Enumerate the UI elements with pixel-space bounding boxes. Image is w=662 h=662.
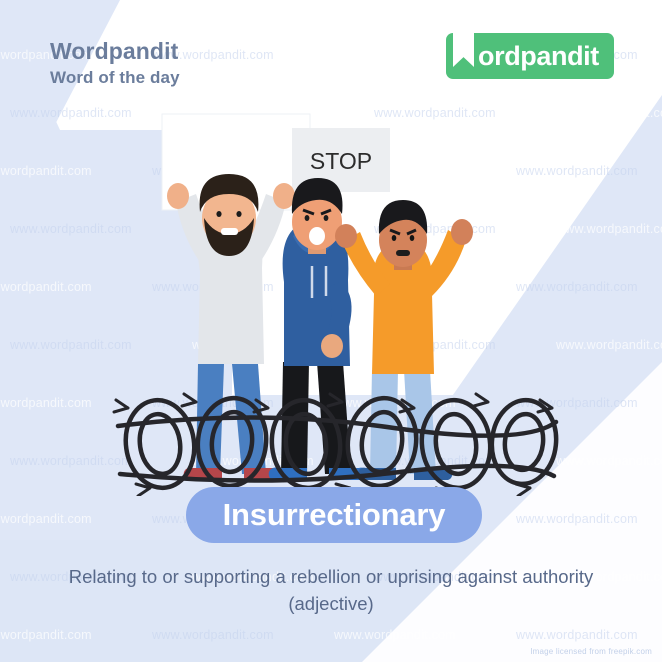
wordpandit-logo[interactable]: ordpandit [446,33,614,79]
page-title: Wordpandit [50,38,180,64]
stop-placard-text: STOP [310,148,372,174]
word-of-the-day-card: www.wordpandit.comwww.wordpandit.comwww.… [0,0,662,662]
bookmark-icon [446,33,480,79]
word-part-of-speech: (adjective) [0,593,662,615]
word-pill: Insurrectionary [186,487,482,543]
bearded-protester [167,174,295,480]
shouting-protester [269,178,368,480]
watermark-text: www.wordpandit.com [0,512,92,526]
word-definition: Relating to or supporting a rebellion or… [0,566,662,589]
logo-label: ordpandit [478,41,599,72]
page-subtitle: Word of the day [50,68,180,88]
header: Wordpandit Word of the day [50,38,180,88]
word-term: Insurrectionary [223,497,446,533]
image-credit: Image licensed from freepik.com [530,647,652,656]
protest-illustration: STOP [0,96,662,496]
